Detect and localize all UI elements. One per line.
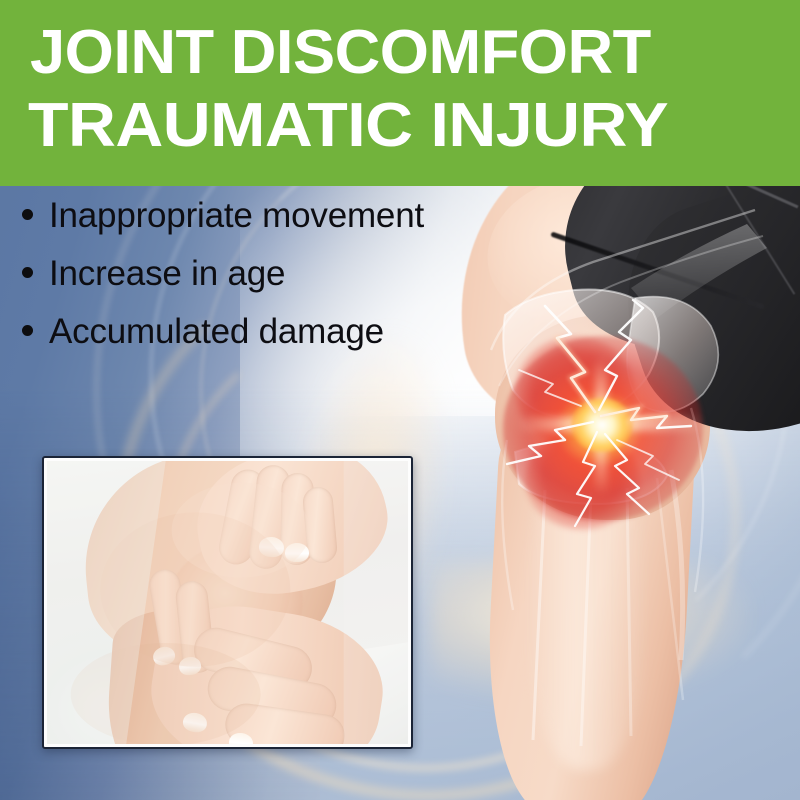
list-item: Increase in age <box>22 256 582 314</box>
list-item: Inappropriate movement <box>22 198 582 256</box>
header-banner: JOINT DISCOMFORT TRAUMATIC INJURY <box>0 0 800 186</box>
bullet-dot-icon <box>22 209 33 220</box>
title-line-1: JOINT DISCOMFORT <box>30 22 651 84</box>
list-item-label: Accumulated damage <box>49 314 384 349</box>
bullet-dot-icon <box>22 325 33 336</box>
list-item-label: Inappropriate movement <box>49 198 424 233</box>
inset-photo-frame <box>42 456 413 749</box>
bullet-dot-icon <box>22 267 33 278</box>
poster-canvas: JOINT DISCOMFORT TRAUMATIC INJURY Inappr… <box>0 0 800 800</box>
list-item-label: Increase in age <box>49 256 285 291</box>
title-line-2: TRAUMATIC INJURY <box>28 95 668 157</box>
inset-photo-image <box>47 461 408 744</box>
list-item: Accumulated damage <box>22 314 582 372</box>
photo-fingernail <box>285 543 309 562</box>
inset-photo-mat <box>44 458 411 747</box>
pain-flash-core <box>571 398 633 452</box>
symptom-cause-list: Inappropriate movement Increase in age A… <box>22 198 582 372</box>
